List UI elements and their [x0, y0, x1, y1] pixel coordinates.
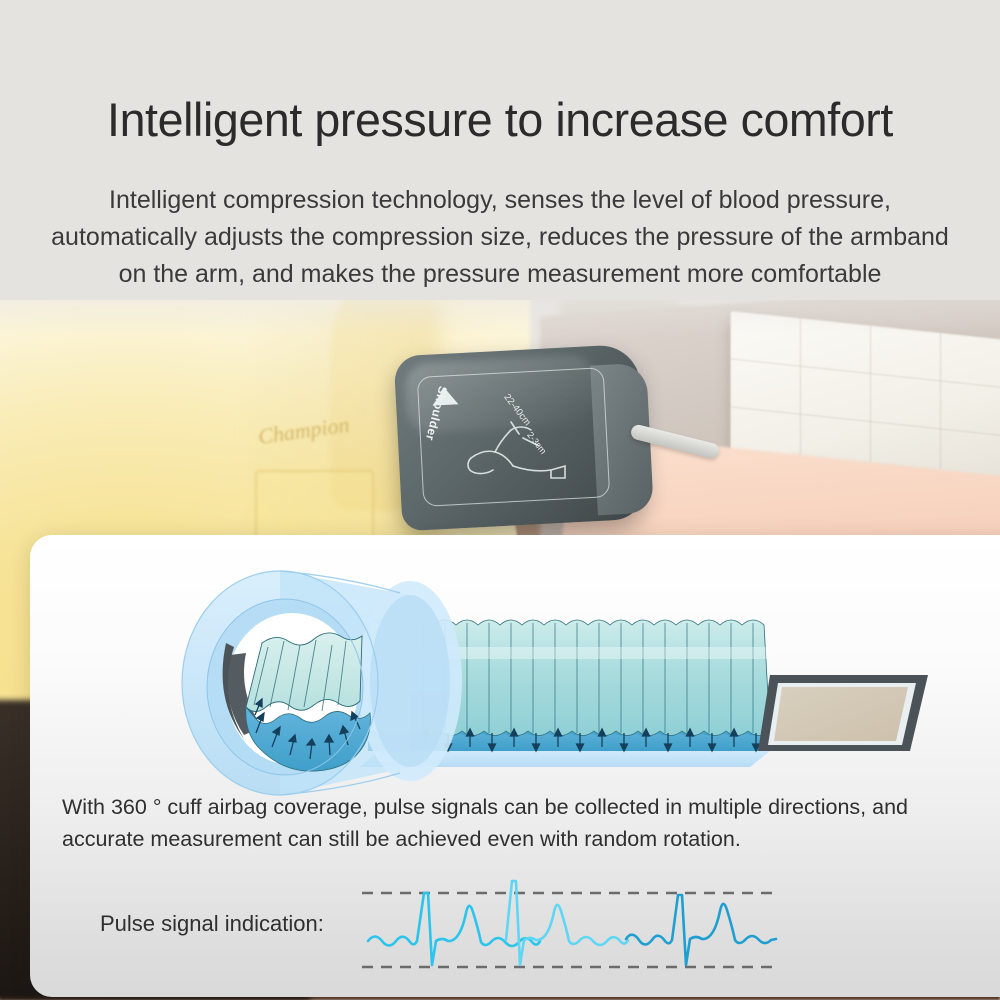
cuff-airbag-illustration	[110, 555, 930, 805]
card-description: With 360 ° cuff airbag coverage, pulse s…	[62, 791, 992, 855]
feature-card: With 360 ° cuff airbag coverage, pulse s…	[30, 535, 1000, 997]
page-subtitle: Intelligent compression technology, sens…	[50, 182, 950, 293]
photo-blood-pressure-cuff: Shoulder 22-40cm 2-3cm	[398, 350, 648, 530]
ecg-beat-3	[626, 895, 776, 965]
cuff-roll-front-inner	[370, 595, 450, 767]
pulse-signal-row: Pulse signal indication:	[62, 885, 1000, 975]
header-band: Intelligent pressure to increase comfort…	[0, 0, 1000, 300]
ecg-beat-1	[368, 893, 540, 965]
fabric-pad	[774, 687, 908, 741]
page-title: Intelligent pressure to increase comfort	[5, 92, 995, 148]
product-detail-page: Champion Shoulder 22-40cm 2-3cm	[0, 0, 1000, 1000]
cuff-fabric-tail	[758, 675, 928, 751]
pulse-signal-label: Pulse signal indication:	[100, 911, 324, 937]
cuff-hand-diagram-icon	[453, 408, 583, 488]
ecg-waveform	[362, 879, 782, 979]
cuff-ring-corrugation	[246, 633, 362, 712]
rolled-cuff	[182, 571, 462, 795]
